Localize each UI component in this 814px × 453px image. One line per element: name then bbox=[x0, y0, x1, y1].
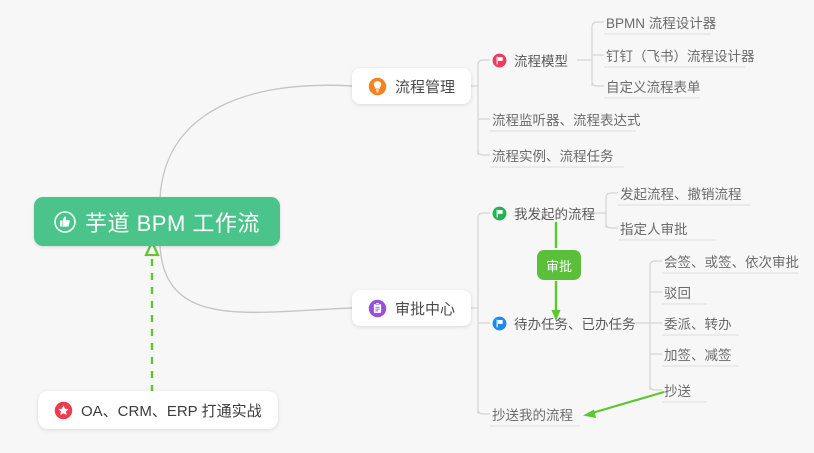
star-icon bbox=[54, 401, 73, 420]
branch-node-approval-center[interactable]: 审批中心 bbox=[352, 290, 471, 326]
leaf-start-cancel-process[interactable]: 发起流程、撤销流程 bbox=[618, 180, 748, 206]
flag-green-icon bbox=[492, 206, 507, 221]
node-todo-done-tasks[interactable]: 待办任务、已办任务 bbox=[490, 310, 642, 336]
branch-node-process-management[interactable]: 流程管理 bbox=[352, 68, 471, 104]
label-my-initiated-process: 我发起的流程 bbox=[514, 203, 595, 223]
leaf-label-countersign-orsign-sequential: 会签、或签、依次审批 bbox=[664, 251, 799, 271]
leaf-add-remove-sign[interactable]: 加签、减签 bbox=[662, 341, 738, 367]
leaf-assignee-approval[interactable]: 指定人审批 bbox=[618, 215, 694, 241]
node-my-initiated-process[interactable]: 我发起的流程 bbox=[490, 200, 601, 226]
label-todo-done-tasks: 待办任务、已办任务 bbox=[514, 313, 636, 333]
leaf-cc[interactable]: 抄送 bbox=[662, 377, 697, 403]
lightbulb-icon bbox=[368, 77, 387, 96]
branch-label-process-management: 流程管理 bbox=[395, 76, 455, 97]
bottom-note-node[interactable]: OA、CRM、ERP 打通实战 bbox=[38, 391, 278, 429]
flag-blue-icon bbox=[492, 316, 507, 331]
leaf-label-reject: 驳回 bbox=[664, 282, 691, 302]
leaf-cc-to-me-process[interactable]: 抄送我的流程 bbox=[490, 401, 579, 427]
leaf-label-start-cancel-process: 发起流程、撤销流程 bbox=[620, 183, 742, 203]
leaf-delegate-transfer[interactable]: 委派、转办 bbox=[662, 310, 738, 336]
leaf-label-cc: 抄送 bbox=[664, 380, 691, 400]
node-process-model[interactable]: 流程模型 bbox=[490, 47, 574, 73]
leaf-label-delegate-transfer: 委派、转办 bbox=[664, 313, 732, 333]
approval-badge[interactable]: 审批 bbox=[537, 250, 581, 280]
leaf-dingtalk-feishu-designer[interactable]: 钉钉（飞书）流程设计器 bbox=[604, 42, 761, 68]
leaf-process-instance-task[interactable]: 流程实例、流程任务 bbox=[490, 142, 620, 168]
leaf-label-custom-process-form: 自定义流程表单 bbox=[606, 76, 701, 96]
flag-red-icon bbox=[492, 53, 507, 68]
leaf-countersign-orsign-sequential[interactable]: 会签、或签、依次审批 bbox=[662, 248, 805, 274]
leaf-label-process-instance-task: 流程实例、流程任务 bbox=[492, 145, 614, 165]
mindmap-canvas: 芋道 BPM 工作流 OA、CRM、ERP 打通实战 流程管理 bbox=[0, 0, 814, 453]
clipboard-icon bbox=[368, 299, 387, 318]
leaf-reject[interactable]: 驳回 bbox=[662, 279, 697, 305]
leaf-label-cc-to-me-process: 抄送我的流程 bbox=[492, 404, 573, 424]
leaf-custom-process-form[interactable]: 自定义流程表单 bbox=[604, 73, 707, 99]
bottom-note-label: OA、CRM、ERP 打通实战 bbox=[81, 400, 262, 421]
leaf-bpmn-designer[interactable]: BPMN 流程设计器 bbox=[604, 9, 722, 35]
label-process-model: 流程模型 bbox=[514, 50, 568, 70]
leaf-label-assignee-approval: 指定人审批 bbox=[620, 218, 688, 238]
leaf-label-bpmn-designer: BPMN 流程设计器 bbox=[606, 12, 716, 32]
root-node[interactable]: 芋道 BPM 工作流 bbox=[34, 197, 280, 246]
arrowhead-cc bbox=[583, 410, 596, 419]
thumbs-up-icon bbox=[54, 211, 76, 233]
branch-label-approval-center: 审批中心 bbox=[395, 298, 455, 319]
leaf-label-process-listener-expression: 流程监听器、流程表达式 bbox=[492, 109, 641, 129]
root-label: 芋道 BPM 工作流 bbox=[85, 206, 260, 238]
leaf-label-add-remove-sign: 加签、减签 bbox=[664, 344, 732, 364]
leaf-process-listener-expression[interactable]: 流程监听器、流程表达式 bbox=[490, 106, 647, 132]
leaf-label-dingtalk-feishu-designer: 钉钉（飞书）流程设计器 bbox=[606, 45, 755, 65]
approval-badge-label: 审批 bbox=[546, 256, 572, 275]
